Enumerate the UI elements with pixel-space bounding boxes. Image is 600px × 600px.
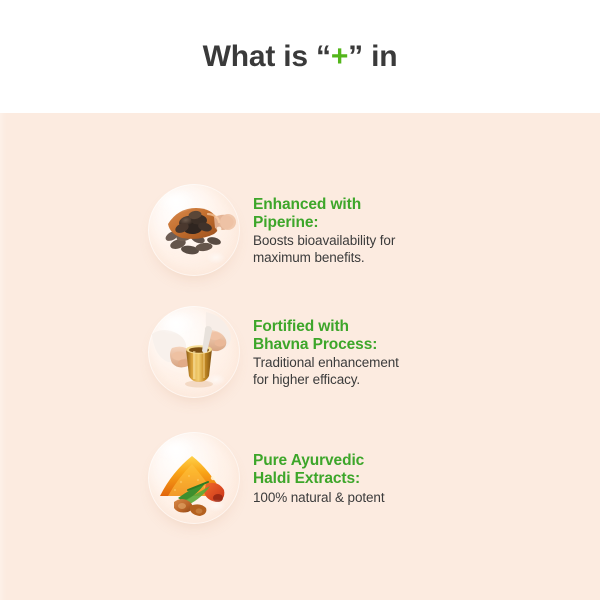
feature-text-block: Pure Ayurvedic Haldi Extracts: 100% natu…	[253, 450, 385, 506]
page-title: What is “+” in	[203, 42, 398, 72]
feature-item-bhavna-process: Fortified with Bhavna Process: Tradition…	[148, 297, 568, 407]
feature-heading: Enhanced with Piperine:	[253, 196, 395, 233]
feature-image-bubble	[148, 184, 240, 276]
hands-with-brass-mortar-and-pestle-icon	[148, 306, 240, 398]
feature-list: Enhanced with Piperine: Boosts bioavaila…	[0, 113, 600, 600]
feature-heading: Pure Ayurvedic Haldi Extracts:	[253, 452, 385, 489]
plus-accent-glyph: +	[331, 40, 348, 73]
infographic-canvas: What is “+” in	[0, 0, 600, 600]
feature-text-block: Fortified with Bhavna Process: Tradition…	[253, 316, 399, 389]
page-title-quote-close: ”	[348, 40, 363, 73]
feature-image-bubble	[148, 306, 240, 398]
feature-image-bubble	[148, 432, 240, 524]
page-title-quote-open: “	[316, 40, 331, 73]
feature-description: Traditional enhancement for higher effic…	[253, 355, 399, 388]
feature-item-piperine: Enhanced with Piperine: Boosts bioavaila…	[148, 175, 568, 285]
page-title-after: in	[363, 40, 397, 73]
turmeric-powder-pile-with-root-icon	[148, 432, 240, 524]
black-peppercorns-in-wooden-scoop-icon	[148, 184, 240, 276]
body-panel: Enhanced with Piperine: Boosts bioavaila…	[0, 113, 600, 600]
page-title-before: What is	[203, 40, 316, 73]
feature-description: 100% natural & potent	[253, 490, 385, 506]
feature-heading: Fortified with Bhavna Process:	[253, 318, 399, 355]
header-band: What is “+” in	[0, 0, 600, 113]
feature-text-block: Enhanced with Piperine: Boosts bioavaila…	[253, 194, 395, 267]
feature-item-haldi-extracts: Pure Ayurvedic Haldi Extracts: 100% natu…	[148, 423, 568, 533]
feature-description: Boosts bioavailability for maximum benef…	[253, 233, 395, 266]
